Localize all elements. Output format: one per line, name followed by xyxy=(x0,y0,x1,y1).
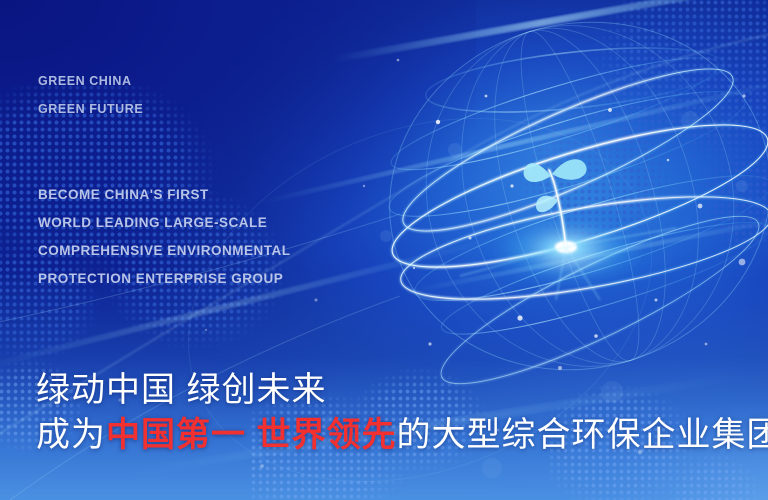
claim-line-3: COMPREHENSIVE ENVIRONMENTAL xyxy=(38,243,291,258)
claim-line-1: BECOME CHINA'S FIRST xyxy=(38,187,209,202)
headline-suffix: 的大型综合环保企业集团 xyxy=(396,416,768,454)
headline-block: 绿动中国 绿创未来 成为中国第一 世界领先的大型综合环保企业集团 xyxy=(36,368,768,458)
headline-accent: 中国第一 世界领先 xyxy=(106,416,396,454)
dot-map-continent-top-right xyxy=(488,0,768,282)
headline-prefix: 成为 xyxy=(36,416,106,454)
headline-line-1: 绿动中国 绿创未来 xyxy=(36,368,768,413)
claim-line-2: WORLD LEADING LARGE-SCALE xyxy=(38,215,267,230)
tagline-line-1: GREEN CHINA xyxy=(38,74,132,88)
dot-map-continent-top-left xyxy=(0,84,320,384)
tagline-line-2: GREEN FUTURE xyxy=(38,102,143,116)
headline-line-2: 成为中国第一 世界领先的大型综合环保企业集团 xyxy=(36,413,768,458)
hero-banner: GREEN CHINA GREEN FUTURE BECOME CHINA'S … xyxy=(0,0,768,500)
claim-line-4: PROTECTION ENTERPRISE GROUP xyxy=(38,271,283,286)
